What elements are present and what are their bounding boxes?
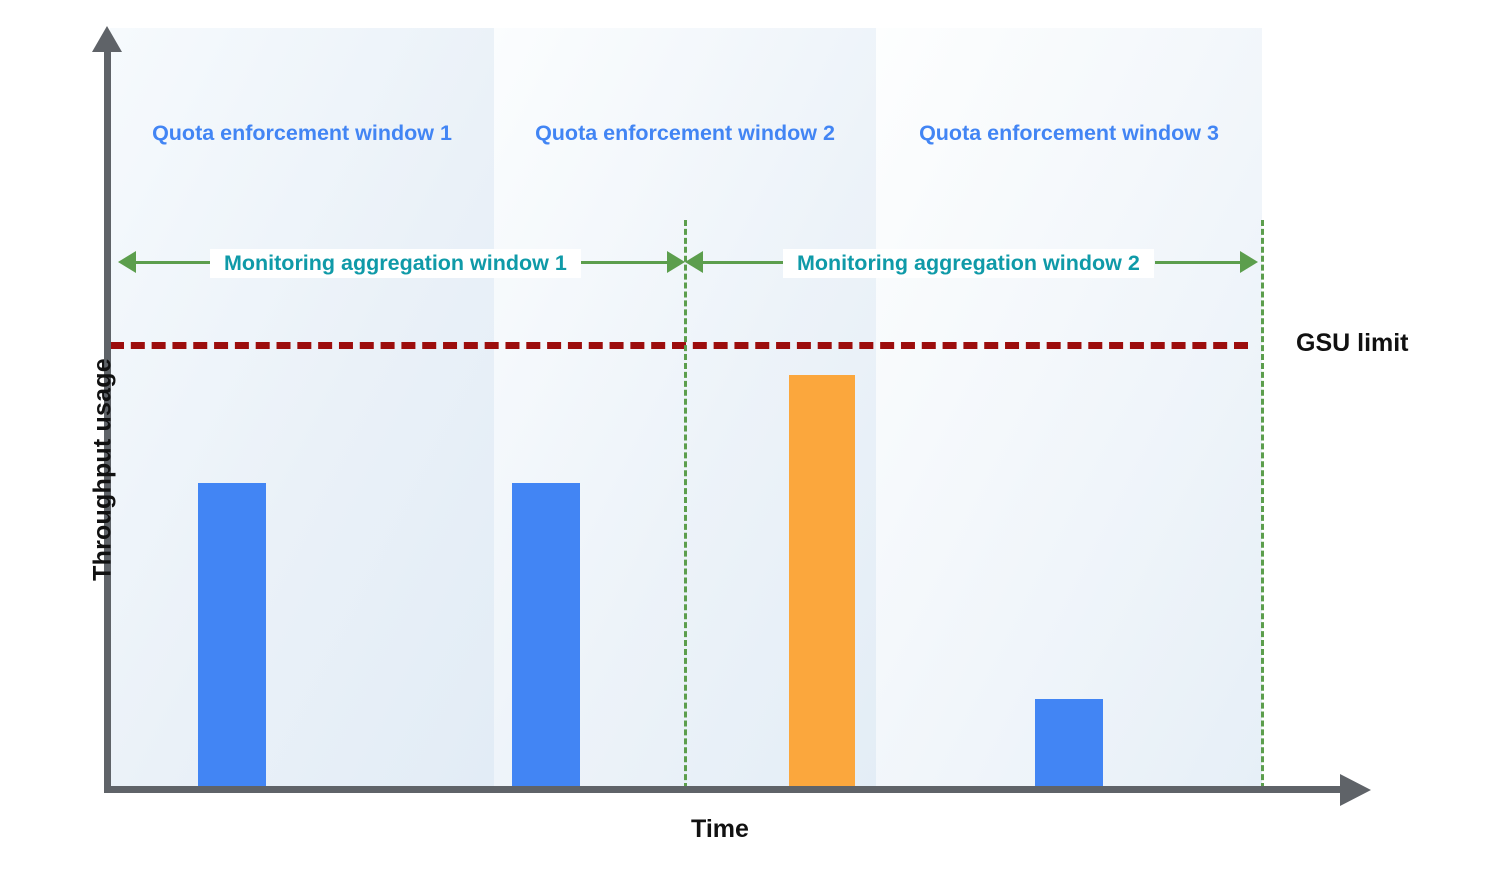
x-axis-arrow-icon: [1340, 774, 1371, 806]
monitoring-boundary-dashed-line-1: [684, 220, 687, 789]
gsu-limit-label: GSU limit: [1296, 329, 1409, 358]
bar-throughput-2: [512, 483, 580, 789]
monitoring-boundary-dashed-line-2: [1261, 220, 1264, 789]
monitoring-aggregation-window-2-label: Monitoring aggregation window 2: [783, 249, 1154, 278]
monitoring-window-2-arrow-right-icon: [1240, 251, 1258, 273]
monitoring-window-1-arrow-right-icon: [667, 251, 685, 273]
monitoring-window-1-line-right: [578, 261, 668, 264]
bar-throughput-4: [1035, 699, 1103, 789]
gsu-limit-line: [110, 342, 1248, 349]
quota-enforcement-window-1-label: Quota enforcement window 1: [110, 121, 494, 146]
monitoring-window-1-arrow-left-icon: [118, 251, 136, 273]
quota-enforcement-window-2-label: Quota enforcement window 2: [494, 121, 876, 146]
bar-throughput-1: [198, 483, 266, 789]
y-axis-title: Throughput usage: [89, 325, 118, 615]
x-axis-title: Time: [620, 815, 820, 844]
monitoring-aggregation-window-1-label: Monitoring aggregation window 1: [210, 249, 581, 278]
monitoring-window-2-line-left: [702, 261, 790, 264]
y-axis-arrow-icon: [92, 26, 122, 52]
bar-throughput-3-over-limit: [789, 375, 855, 789]
diagram-canvas: GSU limit Quota enforcement window 1 Quo…: [0, 0, 1492, 880]
monitoring-window-2-arrow-left-icon: [685, 251, 703, 273]
quota-enforcement-window-3-label: Quota enforcement window 3: [876, 121, 1262, 146]
x-axis-line: [104, 786, 1347, 793]
monitoring-window-2-line-right: [1155, 261, 1243, 264]
